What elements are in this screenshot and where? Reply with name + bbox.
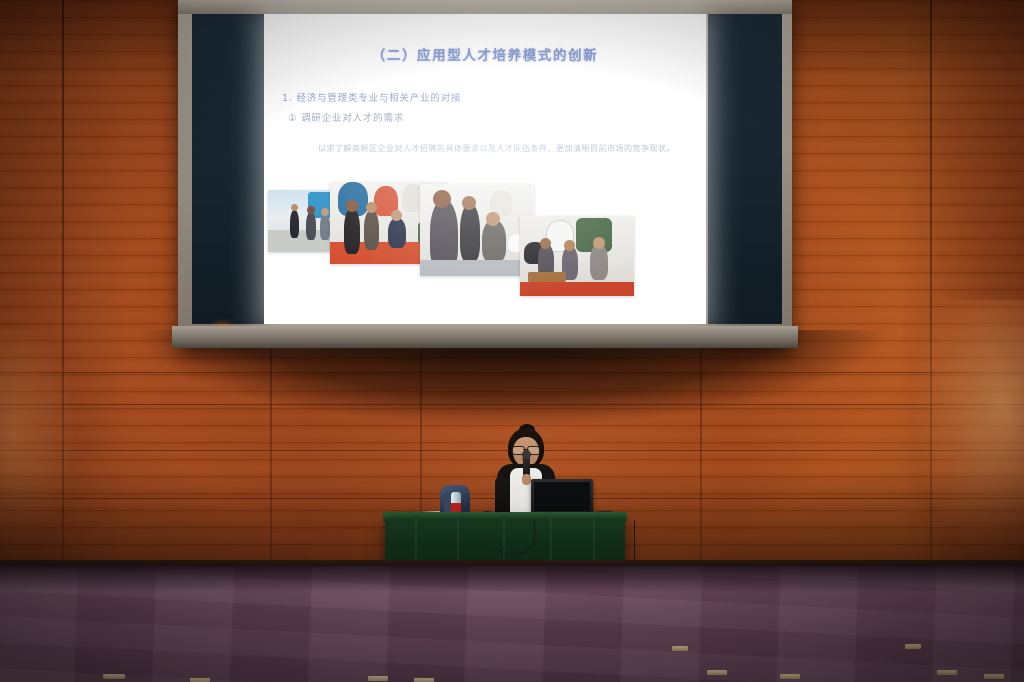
floor-plate	[780, 674, 800, 679]
floor-plate	[905, 644, 921, 649]
floor-plate	[937, 670, 957, 675]
slide-bullet-1: 1. 经济与管理类专业与相关产业的对接	[282, 90, 461, 104]
floor-plate	[707, 670, 727, 675]
carpet-floor	[0, 566, 1024, 682]
floor-plate	[414, 678, 434, 682]
screen-bezel-top	[178, 0, 792, 14]
hand	[522, 474, 531, 485]
floor-plate	[672, 646, 688, 651]
floor-plate	[984, 674, 1004, 679]
screen-side-panel-right	[708, 14, 782, 324]
screen-bezel-bottom	[172, 326, 798, 348]
cable-loop	[492, 520, 535, 555]
slide-photo-collage	[268, 182, 702, 304]
screen-side-panel-left	[192, 14, 264, 324]
slide-bullet-2: ① 调研企业对人才的需求	[288, 110, 404, 124]
slide-content: （二）应用型人才培养模式的创新 1. 经济与管理类专业与相关产业的对接 ① 调研…	[264, 14, 706, 324]
floor-plate	[103, 674, 125, 679]
collage-photo-meeting-room	[520, 216, 634, 296]
floor-plate	[190, 678, 210, 682]
slide-paragraph: 以求了解高新区企业对人才招聘的具体要求以及人才队伍条件，更加清晰目前市场的竞争现…	[288, 141, 688, 156]
collage-photo-office-review	[420, 184, 534, 276]
projection-screen[interactable]: （二）应用型人才培养模式的创新 1. 经济与管理类专业与相关产业的对接 ① 调研…	[178, 0, 792, 348]
slide-title: （二）应用型人才培养模式的创新	[264, 44, 706, 64]
floor-plate	[368, 676, 388, 681]
lecture-hall-scene: （二）应用型人才培养模式的创新 1. 经济与管理类专业与相关产业的对接 ① 调研…	[0, 0, 1024, 682]
floor-shadow	[0, 566, 1024, 592]
